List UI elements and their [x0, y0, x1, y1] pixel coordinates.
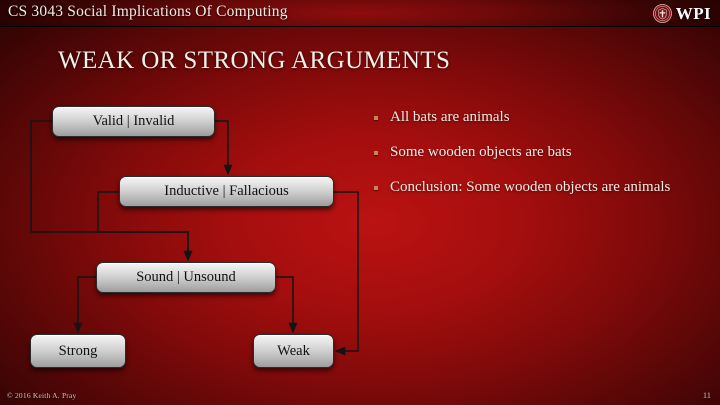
flow-node-sound[interactable]: Sound | Unsound — [96, 262, 276, 293]
flow-node-sound-label: Sound | Unsound — [136, 269, 236, 286]
list-item: All bats are animals — [374, 108, 694, 127]
edge-sound-to-strong — [78, 277, 96, 332]
copyright-notice: © 2016 Keith A. Pray — [7, 391, 77, 400]
flow-node-inductive-label: Inductive | Fallacious — [164, 183, 289, 200]
edge-sound-to-weak — [276, 277, 293, 332]
flow-node-weak[interactable]: Weak — [253, 334, 334, 368]
wpi-logo: WPI — [653, 1, 711, 25]
edge-valid-to-inductive — [215, 121, 228, 174]
flow-node-valid[interactable]: Valid | Invalid — [52, 106, 215, 137]
slide-canvas: CS 3043 Social Implications Of Computing… — [0, 0, 720, 405]
list-item-text: Conclusion: Some wooden objects are anim… — [390, 178, 670, 197]
bullet-square-icon — [374, 186, 378, 190]
flow-node-weak-label: Weak — [277, 343, 310, 360]
bullet-list: All bats are animals Some wooden objects… — [374, 108, 694, 214]
page-number: 11 — [703, 390, 711, 400]
bullet-square-icon — [374, 151, 378, 155]
flow-node-valid-label: Valid | Invalid — [93, 113, 175, 130]
flow-node-inductive[interactable]: Inductive | Fallacious — [119, 176, 334, 207]
argument-flowchart: Valid | Invalid Inductive | Fallacious S… — [0, 0, 400, 405]
edge-inductive-to-weak — [334, 192, 358, 351]
list-item: Some wooden objects are bats — [374, 143, 694, 162]
list-item-text: Some wooden objects are bats — [390, 143, 572, 162]
wpi-crest-icon — [653, 4, 672, 23]
wpi-logo-text: WPI — [676, 5, 711, 22]
list-item-text: All bats are animals — [390, 108, 510, 127]
flow-node-strong[interactable]: Strong — [30, 334, 126, 368]
flow-node-strong-label: Strong — [59, 343, 98, 360]
list-item: Conclusion: Some wooden objects are anim… — [374, 178, 694, 197]
bullet-square-icon — [374, 116, 378, 120]
